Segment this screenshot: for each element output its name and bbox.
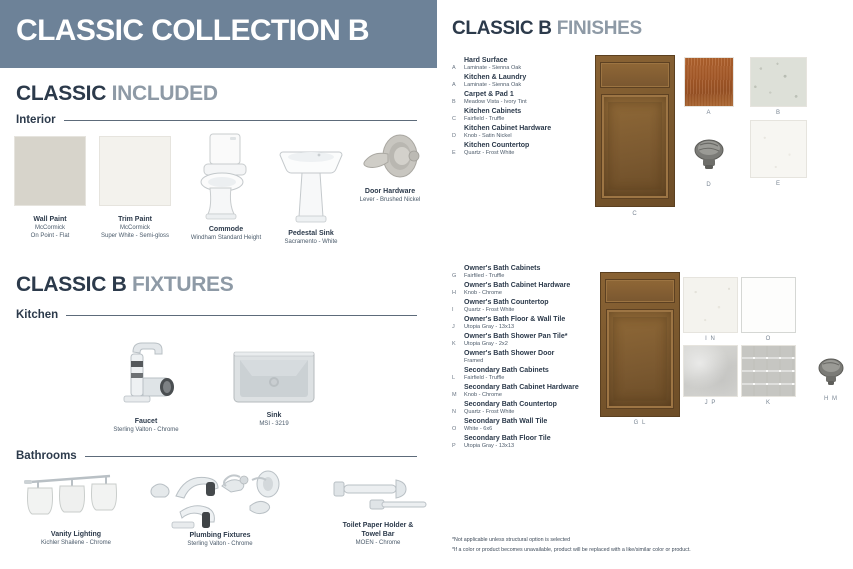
- swatch-bath-cabinet: G L: [600, 272, 680, 417]
- section-header-interior: Interior: [16, 114, 417, 126]
- finish-desc: Utopia Gray - 13x13: [464, 443, 514, 449]
- footnote-2: *If a color or product becomes unavailab…: [452, 546, 691, 555]
- item-sub2: On Point - Flat: [14, 233, 86, 241]
- vanity-light-icon: [14, 470, 138, 528]
- finish-row: Owner's Bath Shower Door Framed: [452, 350, 617, 367]
- swatch-key: G L: [600, 420, 680, 426]
- swatch-key: J P: [683, 400, 738, 406]
- spec-sheet-page: CLASSIC COLLECTION B CLASSIC INCLUDED In…: [0, 0, 853, 569]
- finish-desc: Quartz - Frost White: [464, 150, 514, 156]
- item-sub1: McCormick: [99, 225, 171, 233]
- finish-row: L Secondary Bath Cabinets Fairfield - Tr…: [452, 367, 617, 384]
- title-bold: CLASSIC B: [452, 18, 552, 39]
- finish-key: G: [452, 273, 462, 279]
- swatch-key: B: [750, 110, 807, 116]
- finish-key: B: [452, 99, 462, 105]
- finish-desc: Utopia Gray - 2x2: [464, 341, 508, 347]
- finish-row: M Secondary Bath Cabinet Hardware Knob -…: [452, 384, 617, 401]
- swatch-key: A: [684, 110, 734, 116]
- page-title: CLASSIC COLLECTION B: [16, 14, 369, 48]
- item-name: Trim Paint: [99, 216, 171, 225]
- finish-desc: Quartz - Frost White: [464, 307, 514, 313]
- finish-key: D: [452, 133, 462, 139]
- faucet-icon: [100, 332, 192, 414]
- interior-item-pedestal-sink: Pedestal Sink Sacramento - White: [268, 130, 354, 247]
- finish-desc: Utopia Gray - 13x13: [464, 324, 514, 330]
- swatch-shower-pan-tile: K: [741, 345, 796, 397]
- section-header-bathrooms: Bathrooms: [16, 450, 417, 462]
- bathroom-item-vanity-lighting: Vanity Lighting Kichler Shailene - Chrom…: [14, 470, 138, 548]
- right-panel: CLASSIC B FINISHES A Hard Surface Lamina…: [445, 0, 853, 569]
- swatch-key: E: [750, 181, 807, 187]
- plumbing-fixtures-icon: [146, 468, 294, 530]
- item-sub2: Super White - Semi-gloss: [99, 233, 171, 241]
- finish-desc: Knob - Chrome: [464, 392, 502, 398]
- finish-desc: Fairfiled - Truffle: [464, 273, 504, 279]
- item-name: Door Hardware: [344, 188, 436, 197]
- item-sub1: MSI - 3219: [226, 421, 322, 429]
- finish-key: H: [452, 290, 462, 296]
- swatch-key: C: [595, 211, 675, 217]
- item-sub1: Sacramento - White: [268, 239, 354, 247]
- finish-desc: Laminate - Sienna Oak: [464, 65, 521, 71]
- finish-key: O: [452, 426, 462, 432]
- finish-desc: White - 6x6: [464, 426, 492, 432]
- section-rule: [64, 120, 417, 121]
- cabinet-panel: [601, 94, 668, 199]
- title-light: FINISHES: [557, 18, 642, 39]
- knob-icon: [684, 132, 734, 178]
- finish-name: Owner's Bath Shower Pan Tile*: [464, 333, 567, 340]
- item-sub1: Towel Bar: [320, 531, 436, 540]
- item-sub2: MOEN - Chrome: [320, 540, 436, 548]
- section-rule: [85, 456, 417, 457]
- section-rule: [66, 315, 417, 316]
- finish-key: K: [452, 341, 462, 347]
- finish-key: C: [452, 116, 462, 122]
- swatch-hard-surface: A: [684, 57, 734, 107]
- finish-name: Hard Surface: [464, 57, 508, 64]
- swatch-bath-knob: H M: [810, 352, 852, 392]
- swatch-kitchen-knob: D: [684, 132, 734, 178]
- finish-key: A: [452, 65, 462, 71]
- cabinet-door-swatch: [600, 272, 680, 417]
- swatch-secondary-wall-tile: O: [741, 277, 796, 333]
- swatch-bath-countertop: I N: [683, 277, 738, 333]
- towel-bar-icon: [320, 470, 436, 520]
- finish-key: M: [452, 392, 462, 398]
- finish-name: Secondary Bath Floor Tile: [464, 435, 551, 442]
- section-label: Interior: [16, 114, 56, 126]
- finish-desc: Framed: [464, 358, 483, 364]
- section-label: Bathrooms: [16, 450, 77, 462]
- bathroom-item-towel-bar: Toilet Paper Holder & Towel Bar MOEN - C…: [320, 470, 436, 547]
- finish-desc: Laminate - Sienna Oak: [464, 82, 521, 88]
- item-name: Toilet Paper Holder &: [320, 522, 436, 531]
- finish-key: P: [452, 443, 462, 449]
- toilet-icon: [182, 130, 270, 222]
- kitchen-item-faucet: Faucet Sterling Valton - Chrome: [100, 332, 192, 435]
- item-sub1: Windham Standard Height: [182, 235, 270, 243]
- sink-icon: [226, 340, 322, 412]
- classic-included-heading: CLASSIC INCLUDED: [16, 82, 218, 106]
- item-sub1: Sterling Valton - Chrome: [146, 541, 294, 549]
- finish-row: J Owner's Bath Floor & Wall Tile Utopia …: [452, 316, 617, 333]
- finish-desc: Meadow Vista - Ivory Tint: [464, 99, 527, 105]
- finish-row: D Kitchen Cabinet Hardware Knob - Satin …: [452, 125, 612, 142]
- section-label: Kitchen: [16, 309, 58, 321]
- heading-light: FIXTURES: [132, 273, 233, 296]
- finish-row: P Secondary Bath Floor Tile Utopia Gray …: [452, 435, 617, 452]
- finishes-list-bottom: G Owner's Bath Cabinets Fairfiled - Truf…: [452, 265, 617, 452]
- finish-key: E: [452, 150, 462, 156]
- interior-item-door-hardware: Door Hardware Lever - Brushed Nickel: [344, 128, 436, 205]
- swatch-bath-floor-tile: J P: [683, 345, 738, 397]
- paint-swatch: [99, 136, 171, 206]
- header-bar: CLASSIC COLLECTION B: [0, 0, 437, 68]
- gray-tile-swatch: [683, 345, 738, 397]
- item-name: Vanity Lighting: [14, 531, 138, 540]
- section-header-kitchen: Kitchen: [16, 309, 417, 321]
- finish-name: Kitchen Countertop: [464, 142, 529, 149]
- wood-laminate-swatch: [684, 57, 734, 107]
- item-name: Plumbing Fixtures: [146, 532, 294, 541]
- classic-fixtures-heading: CLASSIC B FIXTURES: [16, 273, 233, 297]
- interior-item-trim-paint: Trim Paint McCormick Super White - Semi-…: [99, 136, 171, 240]
- cabinet-door-swatch: [595, 55, 675, 207]
- finish-row: E Kitchen Countertop Quartz - Frost Whit…: [452, 142, 612, 159]
- finish-name: Secondary Bath Cabinet Hardware: [464, 384, 579, 391]
- finish-desc: Quartz - Frost White: [464, 409, 514, 415]
- item-name: Faucet: [100, 418, 192, 427]
- finish-row: N Secondary Bath Countertop Quartz - Fro…: [452, 401, 617, 418]
- finish-key: L: [452, 375, 462, 381]
- quartz-swatch: [683, 277, 738, 333]
- heading-bold: CLASSIC B: [16, 273, 126, 296]
- finish-row: G Owner's Bath Cabinets Fairfiled - Truf…: [452, 265, 617, 282]
- finish-desc: Knob - Satin Nickel: [464, 133, 512, 139]
- finish-row: C Kitchen Cabinets Fairfield - Truffle: [452, 108, 612, 125]
- finish-row: I Owner's Bath Countertop Quartz - Frost…: [452, 299, 617, 316]
- footnotes: *Not applicable unless structural option…: [452, 536, 691, 555]
- finish-row: A Kitchen & Laundry Laminate - Sienna Oa…: [452, 74, 612, 91]
- interior-item-wall-paint: Wall Paint McCormick On Point - Flat: [14, 136, 86, 240]
- heading-light: INCLUDED: [112, 82, 218, 105]
- paint-swatch: [14, 136, 86, 206]
- finish-name: Owner's Bath Shower Door: [464, 350, 554, 357]
- item-name: Sink: [226, 412, 322, 421]
- swatch-key: D: [684, 182, 734, 188]
- item-sub1: Lever - Brushed Nickel: [344, 197, 436, 205]
- finish-name: Secondary Bath Cabinets: [464, 367, 549, 374]
- item-name: Wall Paint: [14, 216, 86, 225]
- item-sub1: McCormick: [14, 225, 86, 233]
- finishes-list-top: A Hard Surface Laminate - Sienna Oak A K…: [452, 57, 612, 159]
- finish-key: I: [452, 307, 462, 313]
- footnote-1: *Not applicable unless structural option…: [452, 536, 691, 545]
- swatch-kitchen-countertop: E: [750, 120, 807, 178]
- item-name: Pedestal Sink: [268, 230, 354, 239]
- cabinet-drawer: [605, 279, 675, 303]
- white-tile-swatch: [741, 277, 796, 333]
- finish-name: Kitchen & Laundry: [464, 74, 526, 81]
- finish-key: A: [452, 82, 462, 88]
- bathroom-item-plumbing-fixtures: Plumbing Fixtures Sterling Valton - Chro…: [146, 468, 294, 549]
- mosaic-tile-swatch: [741, 345, 796, 397]
- carpet-swatch: [750, 57, 807, 107]
- swatch-kitchen-cabinet: C: [595, 55, 675, 207]
- item-name: Commode: [182, 226, 270, 235]
- finish-name: Kitchen Cabinets: [464, 108, 521, 115]
- kitchen-item-sink: Sink MSI - 3219: [226, 340, 322, 429]
- finish-name: Carpet & Pad 1: [464, 91, 514, 98]
- swatch-key: O: [741, 336, 796, 342]
- left-panel: CLASSIC COLLECTION B CLASSIC INCLUDED In…: [0, 0, 437, 569]
- heading-bold: CLASSIC: [16, 82, 106, 105]
- finish-name: Secondary Bath Countertop: [464, 401, 557, 408]
- finish-name: Kitchen Cabinet Hardware: [464, 125, 551, 132]
- finish-name: Owner's Bath Cabinets: [464, 265, 540, 272]
- swatch-carpet: B: [750, 57, 807, 107]
- finish-name: Owner's Bath Countertop: [464, 299, 549, 306]
- finish-row: K Owner's Bath Shower Pan Tile* Utopia G…: [452, 333, 617, 350]
- finish-row: B Carpet & Pad 1 Meadow Vista - Ivory Ti…: [452, 91, 612, 108]
- finish-desc: Fairfield - Truffle: [464, 116, 504, 122]
- finish-row: A Hard Surface Laminate - Sienna Oak: [452, 57, 612, 74]
- finish-key: N: [452, 409, 462, 415]
- interior-item-commode: Commode Windham Standard Height: [182, 130, 270, 243]
- finish-name: Owner's Bath Floor & Wall Tile: [464, 316, 565, 323]
- item-sub1: Sterling Valton - Chrome: [100, 427, 192, 435]
- finish-desc: Knob - Chrome: [464, 290, 502, 296]
- finish-desc: Fairfield - Truffle: [464, 375, 504, 381]
- swatch-key: I N: [683, 336, 738, 342]
- finish-key: J: [452, 324, 462, 330]
- finish-name: Owner's Bath Cabinet Hardware: [464, 282, 570, 289]
- finishes-title: CLASSIC B FINISHES: [452, 18, 642, 40]
- finish-row: O Secondary Bath Wall Tile White - 6x6: [452, 418, 617, 435]
- pedestal-sink-icon: [268, 130, 354, 230]
- cabinet-drawer: [600, 62, 670, 88]
- swatch-key: H M: [810, 396, 852, 402]
- item-sub1: Kichler Shailene - Chrome: [14, 540, 138, 548]
- cabinet-panel: [606, 309, 673, 409]
- door-lever-icon: [344, 128, 436, 188]
- finish-name: Secondary Bath Wall Tile: [464, 418, 547, 425]
- finish-row: H Owner's Bath Cabinet Hardware Knob - C…: [452, 282, 617, 299]
- swatch-key: K: [741, 400, 796, 406]
- quartz-swatch: [750, 120, 807, 178]
- knob-icon: [810, 352, 852, 392]
